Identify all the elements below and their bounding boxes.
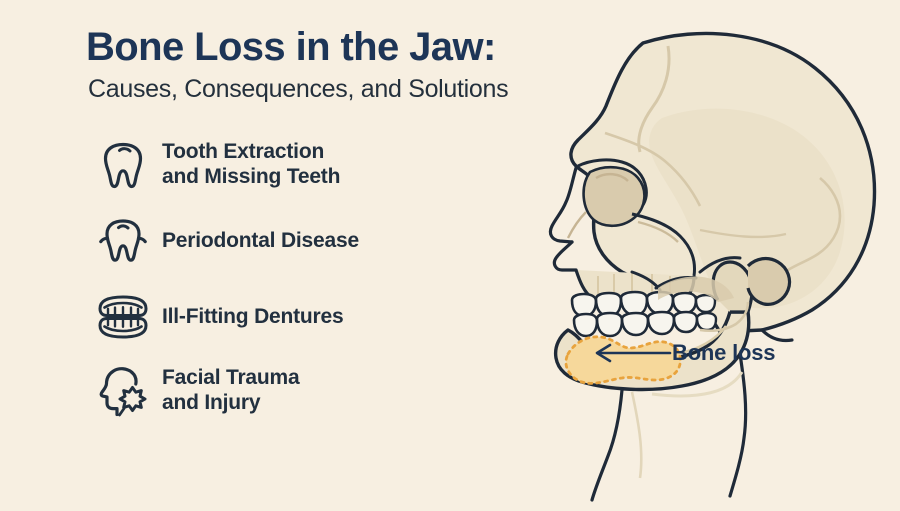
dentures-icon <box>92 288 154 346</box>
cause-item-label: Periodontal Disease <box>162 229 359 254</box>
bone-loss-annotation-label: Bone loss <box>672 340 775 366</box>
cause-item-label: Ill-Fitting Dentures <box>162 305 344 330</box>
infographic-canvas: Bone Loss in the Jaw: Causes, Consequenc… <box>0 0 900 506</box>
skull-illustration <box>400 0 900 506</box>
cause-list: Tooth Extraction and Missing Teeth Perio… <box>92 136 422 434</box>
cause-item-label: Tooth Extraction and Missing Teeth <box>162 140 340 190</box>
cause-item-ill-fitting-dentures: Ill-Fitting Dentures <box>92 288 422 346</box>
cause-item-label: Facial Trauma and Injury <box>162 366 299 416</box>
tooth-icon <box>92 136 154 194</box>
tooth-receding-gums-icon <box>92 212 154 270</box>
cause-item-tooth-extraction: Tooth Extraction and Missing Teeth <box>92 136 422 194</box>
lower-teeth <box>574 312 716 336</box>
head-impact-icon <box>92 362 154 420</box>
cause-item-periodontal-disease: Periodontal Disease <box>92 212 422 270</box>
bone-loss-region <box>566 337 680 384</box>
cause-item-facial-trauma: Facial Trauma and Injury <box>92 362 422 420</box>
